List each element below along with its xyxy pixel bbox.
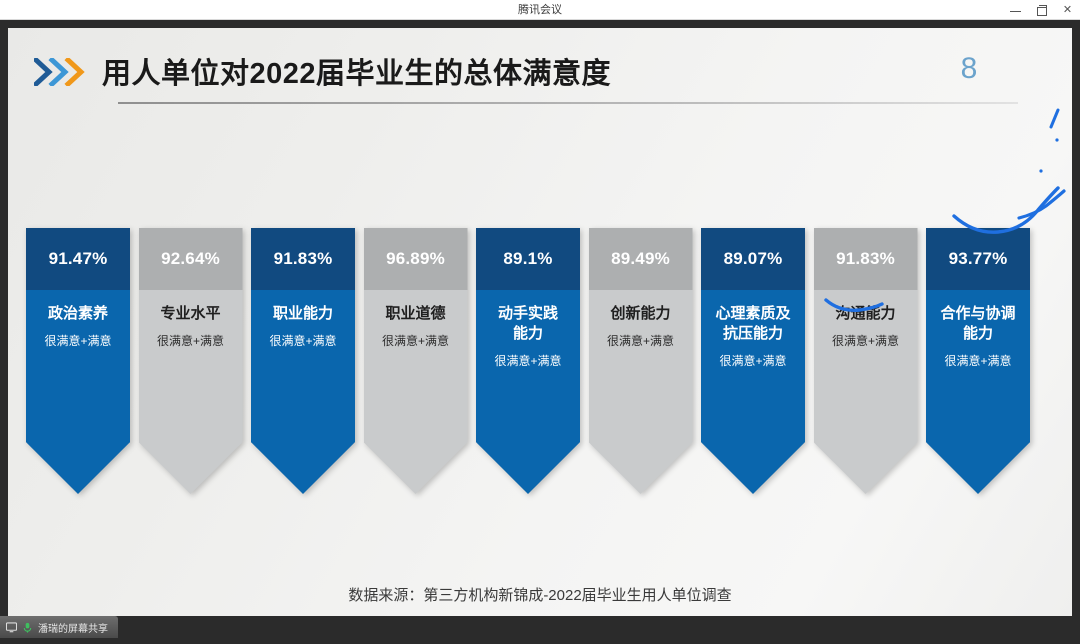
arrow-head: 96.89% [364, 228, 468, 290]
arrow-head: 92.64% [139, 228, 243, 290]
category-label: 专业水平 [143, 304, 239, 324]
satisfaction-note: 很满意+满意 [705, 354, 801, 369]
category-label-line: 抗压能力 [705, 324, 801, 344]
restore-icon[interactable] [1035, 4, 1048, 17]
percentage-value: 91.83% [836, 249, 895, 269]
arrow-body: 职业能力很满意+满意 [251, 290, 355, 349]
percentage-value: 92.64% [161, 249, 220, 269]
category-label-line: 能力 [480, 324, 576, 344]
arrow-body: 合作与协调能力很满意+满意 [926, 290, 1030, 369]
arrow-item: 89.07%心理素质及抗压能力很满意+满意 [701, 228, 805, 494]
tencent-meeting-window: 腾讯会议 ✕ 用人单位对2022届毕业生的总体满意度 8 91.47%政治素养很… [0, 0, 1080, 644]
arrow-shape: 89.07%心理素质及抗压能力很满意+满意 [701, 228, 805, 494]
arrow-item: 89.49%创新能力很满意+满意 [589, 228, 693, 494]
arrow-shape: 89.1%动手实践能力很满意+满意 [476, 228, 580, 494]
screen-share-indicator[interactable]: 潘瑞的屏幕共享 [0, 616, 118, 638]
satisfaction-note: 很满意+满意 [480, 354, 576, 369]
category-label-line: 动手实践 [480, 304, 576, 324]
satisfaction-note: 很满意+满意 [593, 334, 689, 349]
category-label: 职业道德 [368, 304, 464, 324]
share-label: 潘瑞的屏幕共享 [38, 620, 108, 635]
category-label: 沟通能力 [818, 304, 914, 324]
source-note: 数据来源：第三方机构新锦成-2022届毕业生用人单位调查 [8, 584, 1072, 605]
arrow-item: 91.83%沟通能力很满意+满意 [814, 228, 918, 494]
satisfaction-arrow-chart: 91.47%政治素养很满意+满意92.64%专业水平很满意+满意91.83%职业… [8, 228, 1072, 568]
satisfaction-note: 很满意+满意 [818, 334, 914, 349]
percentage-value: 91.83% [274, 249, 333, 269]
minimize-icon[interactable] [1009, 4, 1022, 17]
arrow-shape: 92.64%专业水平很满意+满意 [139, 228, 243, 494]
satisfaction-note: 很满意+满意 [143, 334, 239, 349]
arrow-item: 89.1%动手实践能力很满意+满意 [476, 228, 580, 494]
arrow-body: 专业水平很满意+满意 [139, 290, 243, 349]
category-label-line: 心理素质及 [705, 304, 801, 324]
window-frame-left [0, 20, 8, 616]
close-icon[interactable]: ✕ [1061, 4, 1074, 17]
arrow-body: 创新能力很满意+满意 [589, 290, 693, 349]
arrow-shape: 91.83%职业能力很满意+满意 [251, 228, 355, 494]
arrow-head: 89.07% [701, 228, 805, 290]
arrow-item: 92.64%专业水平很满意+满意 [139, 228, 243, 494]
shared-slide: 用人单位对2022届毕业生的总体满意度 8 91.47%政治素养很满意+满意92… [8, 28, 1072, 616]
microphone-icon [22, 622, 33, 633]
monitor-icon [6, 622, 17, 633]
arrow-head: 89.49% [589, 228, 693, 290]
percentage-value: 89.07% [724, 249, 783, 269]
arrow-shape: 91.83%沟通能力很满意+满意 [814, 228, 918, 494]
satisfaction-note: 很满意+满意 [930, 354, 1026, 369]
arrow-shape: 93.77%合作与协调能力很满意+满意 [926, 228, 1030, 494]
percentage-value: 89.1% [503, 249, 552, 269]
arrow-head: 91.47% [26, 228, 130, 290]
category-label-line: 创新能力 [593, 304, 689, 324]
window-frame-right [1072, 20, 1080, 616]
arrow-item: 91.83%职业能力很满意+满意 [251, 228, 355, 494]
slide-header: 用人单位对2022届毕业生的总体满意度 8 [34, 48, 1034, 100]
arrow-item: 91.47%政治素养很满意+满意 [26, 228, 130, 494]
arrow-body: 心理素质及抗压能力很满意+满意 [701, 290, 805, 369]
category-label: 职业能力 [255, 304, 351, 324]
percentage-value: 93.77% [949, 249, 1008, 269]
category-label-line: 政治素养 [30, 304, 126, 324]
arrow-body: 职业道德很满意+满意 [364, 290, 468, 349]
arrow-item: 93.77%合作与协调能力很满意+满意 [926, 228, 1030, 494]
arrow-shape: 91.47%政治素养很满意+满意 [26, 228, 130, 494]
slide-page-number: 8 [939, 52, 999, 86]
satisfaction-note: 很满意+满意 [255, 334, 351, 349]
window-titlebar: 腾讯会议 ✕ [0, 0, 1080, 20]
arrow-shape: 89.49%创新能力很满意+满意 [589, 228, 693, 494]
category-label: 合作与协调能力 [930, 304, 1026, 344]
arrow-item: 96.89%职业道德很满意+满意 [364, 228, 468, 494]
title-divider [118, 102, 1018, 104]
category-label: 心理素质及抗压能力 [705, 304, 801, 344]
percentage-value: 96.89% [386, 249, 445, 269]
satisfaction-note: 很满意+满意 [30, 334, 126, 349]
window-title: 腾讯会议 [0, 0, 1080, 20]
percentage-value: 89.49% [611, 249, 670, 269]
arrow-head: 91.83% [814, 228, 918, 290]
arrow-head: 93.77% [926, 228, 1030, 290]
arrow-head: 89.1% [476, 228, 580, 290]
category-label: 创新能力 [593, 304, 689, 324]
taskbar: 潘瑞的屏幕共享 [0, 616, 1080, 644]
category-label-line: 沟通能力 [818, 304, 914, 324]
category-label-line: 专业水平 [143, 304, 239, 324]
arrow-body: 政治素养很满意+满意 [26, 290, 130, 349]
category-label: 动手实践能力 [480, 304, 576, 344]
category-label: 政治素养 [30, 304, 126, 324]
window-controls: ✕ [1009, 0, 1074, 20]
arrow-body: 沟通能力很满意+满意 [814, 290, 918, 349]
category-label-line: 职业能力 [255, 304, 351, 324]
arrow-shape: 96.89%职业道德很满意+满意 [364, 228, 468, 494]
category-label-line: 职业道德 [368, 304, 464, 324]
chevron-triple-icon [34, 58, 94, 86]
arrow-head: 91.83% [251, 228, 355, 290]
arrow-body: 动手实践能力很满意+满意 [476, 290, 580, 369]
window-frame-top [0, 20, 1080, 28]
page-title: 用人单位对2022届毕业生的总体满意度 [102, 48, 611, 100]
category-label-line: 合作与协调 [930, 304, 1026, 324]
category-label-line: 能力 [930, 324, 1026, 344]
percentage-value: 91.47% [49, 249, 108, 269]
satisfaction-note: 很满意+满意 [368, 334, 464, 349]
